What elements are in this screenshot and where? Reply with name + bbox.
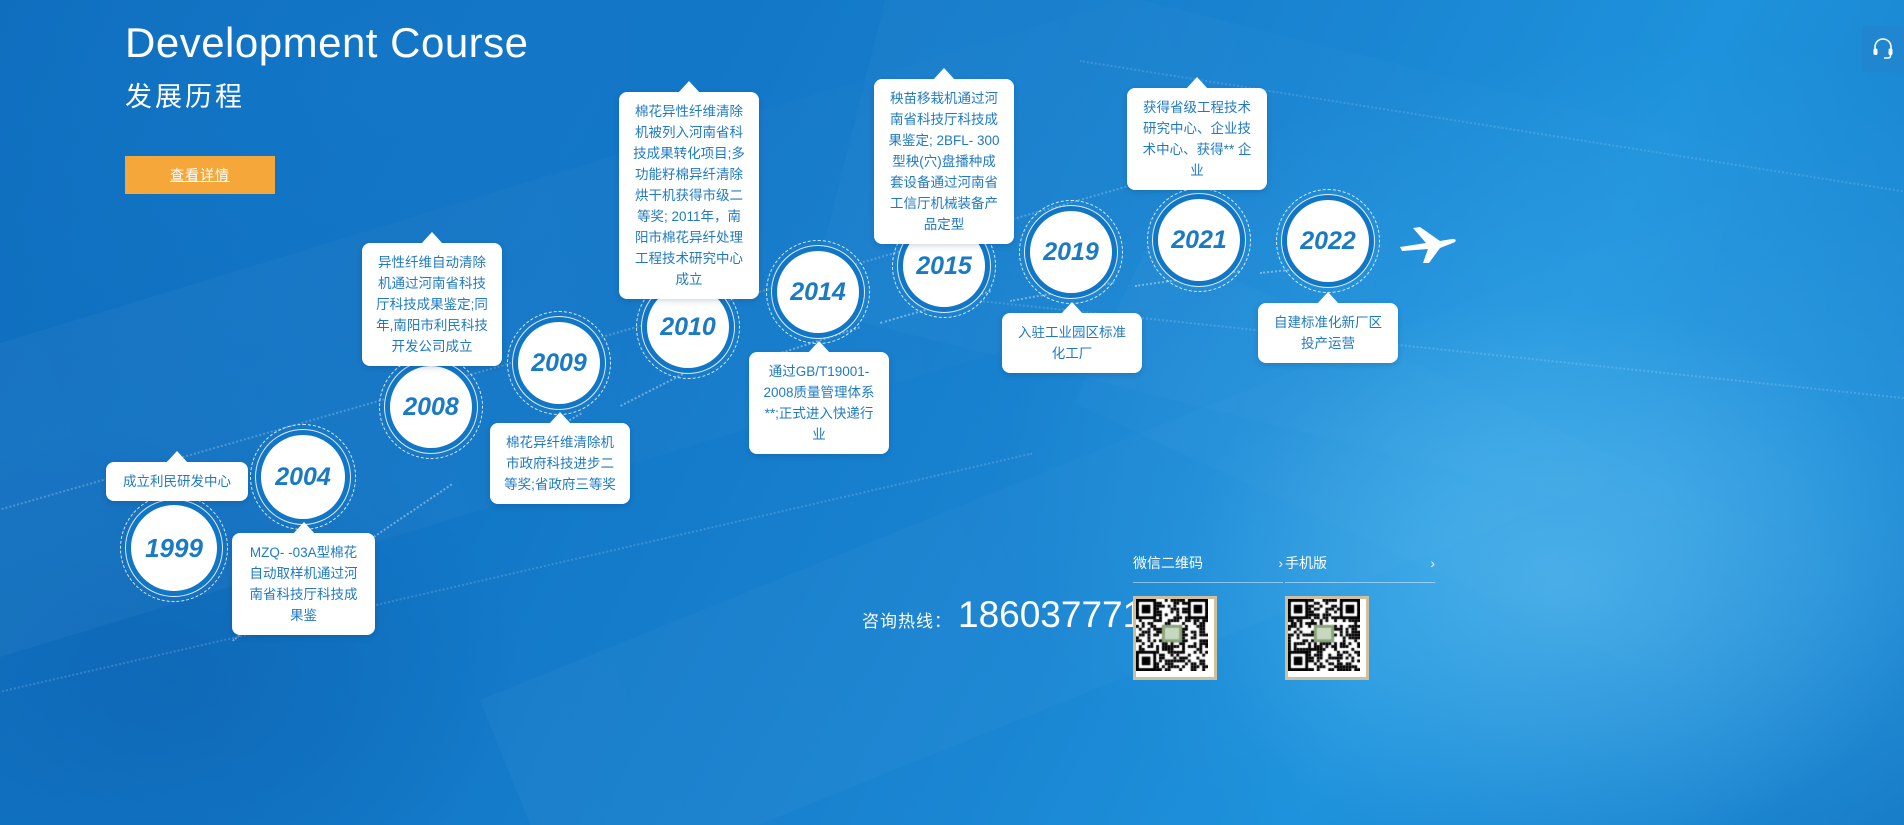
page-header: Development Course 发展历程	[125, 18, 529, 116]
timeline-caption-text: 异性纤维自动清除机通过河南省科技厅科技成果鉴定;同年,南阳市利民科技开发公司成立	[376, 255, 488, 354]
timeline-year: 2022	[1300, 227, 1356, 256]
timeline-caption-2022[interactable]: 自建标准化新厂区投产运营	[1258, 303, 1398, 363]
view-details-button[interactable]: 查看详情	[125, 156, 275, 194]
timeline-caption-2021[interactable]: 获得省级工程技术研究中心、企业技术中心、获得** 企业	[1127, 88, 1267, 190]
headset-icon	[1871, 35, 1895, 64]
timeline-year: 2014	[790, 278, 846, 307]
timeline-node-2021[interactable]: 2021	[1158, 199, 1240, 281]
timeline-caption-2019[interactable]: 入驻工业园区标准化工厂	[1002, 313, 1142, 373]
timeline-caption-text: 秧苗移栽机通过河南省科技厅科技成果鉴定; 2BFL- 300型秧(穴)盘播种成套…	[888, 91, 999, 232]
online-service-button[interactable]	[1862, 26, 1904, 72]
timeline-node-1999[interactable]: 1999	[131, 505, 217, 591]
timeline-caption-2015[interactable]: 秧苗移栽机通过河南省科技厅科技成果鉴定; 2BFL- 300型秧(穴)盘播种成套…	[874, 79, 1014, 244]
mobile-qr-image	[1285, 596, 1369, 680]
mobile-qr-block: 手机版 ›	[1285, 553, 1435, 680]
timeline-caption-text: MZQ- -03A型棉花自动取样机通过河南省科技厅科技成果鉴	[250, 545, 358, 623]
view-details-label: 查看详情	[170, 165, 230, 185]
timeline-year: 2019	[1043, 238, 1099, 267]
timeline-caption-1999[interactable]: 成立利民研发中心	[106, 462, 248, 501]
timeline-caption-text: 成立利民研发中心	[123, 474, 231, 489]
chevron-right-icon: ›	[1430, 555, 1435, 571]
timeline-year: 2021	[1171, 226, 1227, 255]
timeline-caption-text: 棉花异纤维清除机市政府科技进步二等奖;省政府三等奖	[504, 435, 616, 492]
wechat-qr-label: 微信二维码	[1133, 553, 1203, 573]
wechat-qr-image	[1133, 596, 1217, 680]
wechat-qr-header[interactable]: 微信二维码 ›	[1133, 553, 1283, 583]
timeline-year: 2009	[531, 349, 587, 378]
timeline-node-2009[interactable]: 2009	[518, 322, 600, 404]
timeline-year: 2015	[916, 252, 972, 281]
timeline-caption-2009[interactable]: 棉花异纤维清除机市政府科技进步二等奖;省政府三等奖	[490, 423, 630, 504]
timeline-year: 2010	[660, 313, 716, 342]
wechat-qr-block: 微信二维码 ›	[1133, 553, 1283, 680]
timeline-caption-2010[interactable]: 棉花异性纤维清除机被列入河南省科技成果转化项目;多功能籽棉异纤清除烘干机获得市级…	[619, 92, 759, 299]
timeline-node-2008[interactable]: 2008	[390, 366, 472, 448]
timeline-node-2004[interactable]: 2004	[261, 435, 345, 519]
timeline-caption-2004[interactable]: MZQ- -03A型棉花自动取样机通过河南省科技厅科技成果鉴	[232, 533, 375, 635]
page-title-cn: 发展历程	[125, 78, 529, 116]
timeline-node-2014[interactable]: 2014	[777, 251, 859, 333]
timeline-caption-text: 获得省级工程技术研究中心、企业技术中心、获得** 企业	[1143, 100, 1252, 178]
mobile-qr-label: 手机版	[1285, 553, 1327, 573]
timeline-year: 1999	[145, 533, 203, 564]
hotline-label: 咨询热线：	[862, 607, 952, 632]
timeline-caption-2014[interactable]: 通过GB/T19001-2008质量管理体系**;正式进入快递行业	[749, 352, 889, 454]
page-background: Development Course 发展历程 查看详情 1999 成立利民研发…	[0, 0, 1904, 825]
timeline-year: 2004	[275, 463, 331, 492]
timeline-caption-text: 入驻工业园区标准化工厂	[1018, 325, 1126, 361]
timeline-year: 2008	[403, 393, 459, 422]
chevron-right-icon: ›	[1278, 555, 1283, 571]
mobile-qr-header[interactable]: 手机版 ›	[1285, 553, 1435, 583]
page-title-en: Development Course	[125, 18, 529, 68]
timeline-caption-text: 自建标准化新厂区投产运营	[1274, 315, 1382, 351]
timeline-caption-2008[interactable]: 异性纤维自动清除机通过河南省科技厅科技成果鉴定;同年,南阳市利民科技开发公司成立	[362, 243, 502, 366]
timeline-caption-text: 通过GB/T19001-2008质量管理体系**;正式进入快递行业	[763, 364, 874, 442]
timeline-caption-text: 棉花异性纤维清除机被列入河南省科技成果转化项目;多功能籽棉异纤清除烘干机获得市级…	[633, 104, 745, 287]
bg-streak	[1074, 240, 1904, 783]
airplane-icon	[1396, 222, 1458, 268]
timeline-node-2022[interactable]: 2022	[1287, 200, 1369, 282]
timeline-node-2019[interactable]: 2019	[1030, 211, 1112, 293]
